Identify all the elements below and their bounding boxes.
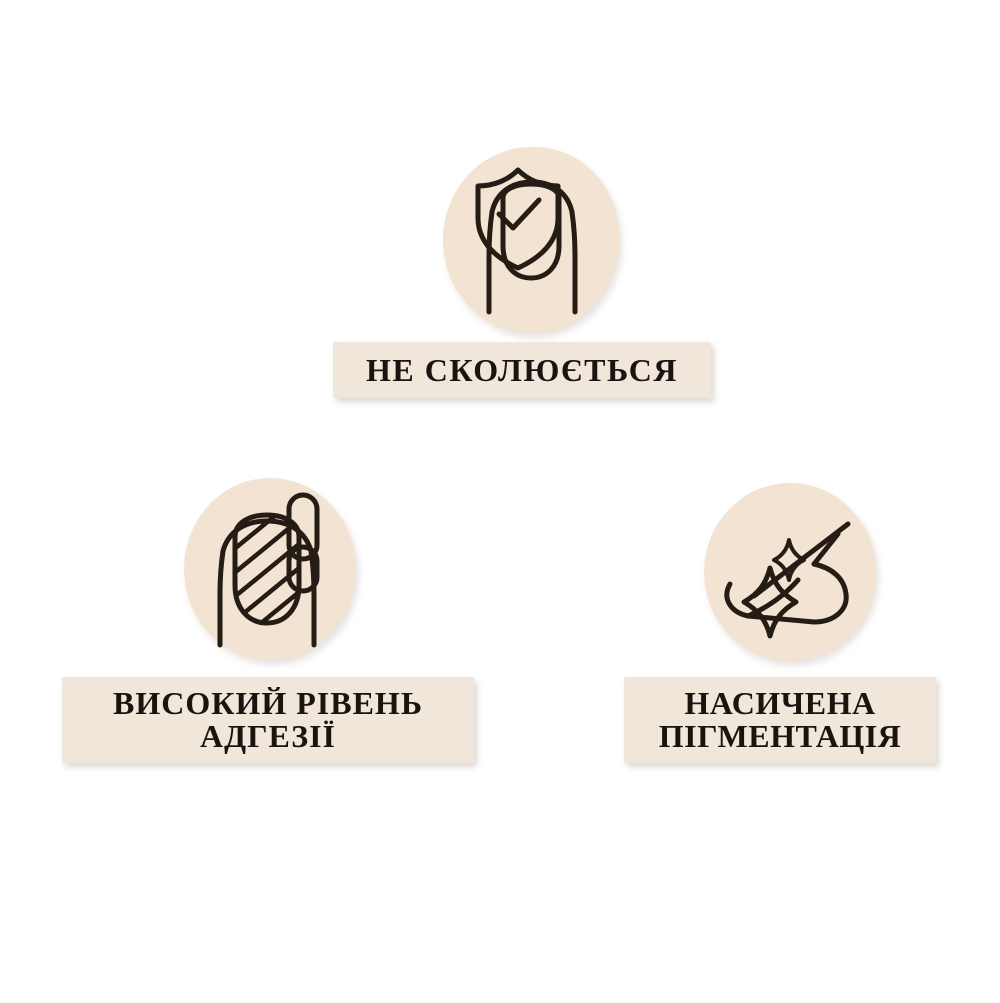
feature-label-text: ВИСОКИЙ РІВЕНЬ АДГЕЗІЇ [113, 687, 423, 752]
nail-shield-check-icon [456, 160, 606, 320]
features-infographic: НЕ СКОЛЮЄТЬСЯ [0, 0, 1000, 1003]
feature-label-chip-resistant: НЕ СКОЛЮЄТЬСЯ [333, 342, 711, 398]
feature-label-high-adhesion: ВИСОКИЙ РІВЕНЬ АДГЕЗІЇ [62, 677, 474, 763]
nail-sparkle-brushstroke-icon [714, 502, 866, 642]
feature-label-text: НАСИЧЕНА ПІГМЕНТАЦІЯ [659, 687, 902, 752]
feature-icon-badge-high-adhesion [184, 478, 356, 660]
feature-icon-badge-rich-pigmentation [704, 483, 876, 661]
feature-icon-badge-chip-resistant [443, 147, 619, 333]
nail-brush-hatched-icon [195, 489, 345, 649]
feature-label-text: НЕ СКОЛЮЄТЬСЯ [366, 354, 678, 387]
feature-label-rich-pigmentation: НАСИЧЕНА ПІГМЕНТАЦІЯ [624, 677, 936, 763]
